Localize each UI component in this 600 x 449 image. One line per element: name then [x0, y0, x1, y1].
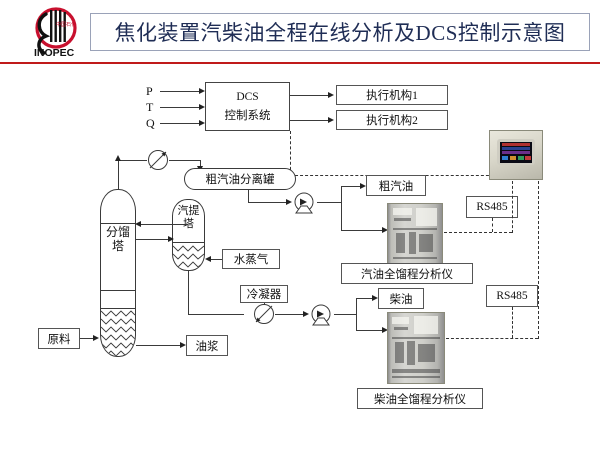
separator-drum-label: 粗汽油分离罐	[206, 171, 275, 187]
line-stripper-vapor-return	[141, 224, 188, 225]
line-tower-overhead-up	[118, 160, 119, 190]
line-steam-to-stripper	[211, 259, 222, 260]
line-hx-to-drum	[169, 160, 200, 161]
line-stripper-to-condenser	[188, 314, 244, 315]
diagram-canvas: INOPEC 中国石化 焦化装置汽柴油全程在线分析及DCS控制示意图 P T Q…	[0, 0, 600, 449]
line-pump-out-upper	[317, 202, 341, 203]
line-feed-to-tower	[80, 338, 93, 339]
page-title-text: 焦化装置汽柴油全程在线分析及DCS控制示意图	[115, 17, 566, 47]
diesel-analyzer-caption: 柴油全馏程分析仪	[357, 388, 483, 409]
logo-cn-text: 中国石化	[56, 21, 76, 28]
dcs-label-line1: DCS	[236, 91, 258, 103]
gasoline-analyzer-caption: 汽油全馏程分析仪	[341, 263, 473, 284]
sinopec-logo: INOPEC 中国石化	[26, 6, 88, 60]
actuator-1-box: 执行机构1	[336, 85, 448, 105]
stripper-label: 汽提塔	[176, 205, 201, 230]
diesel-analyzer-caption-text: 柴油全馏程分析仪	[374, 391, 466, 407]
line-stripper-bottom-down	[188, 271, 189, 314]
feed-text: 原料	[48, 331, 71, 347]
dashed-diesel-to-bus	[446, 338, 538, 339]
rs485-lower-label: RS485	[486, 285, 538, 307]
diesel-condenser-symbol	[253, 303, 275, 325]
input-label-q: Q	[146, 116, 155, 131]
diesel-analyzer-photo	[387, 312, 445, 384]
diesel-label: 柴油	[378, 288, 424, 309]
crude-gasoline-text: 粗汽油	[379, 178, 414, 194]
line-to-gasoline-analyzer	[341, 230, 382, 231]
tower-tray-1	[101, 223, 135, 224]
line-diesel-pump-out	[334, 314, 356, 315]
logo-wordmark: INOPEC	[34, 47, 75, 59]
line-gasoline-riser	[341, 186, 342, 230]
input-label-p: P	[146, 84, 153, 99]
separator-drum: 粗汽油分离罐	[184, 168, 296, 190]
gasoline-analyzer-photo	[387, 203, 443, 265]
fractionator-label: 分馏塔	[104, 226, 132, 253]
condenser-text: 冷凝器	[247, 286, 282, 302]
header: INOPEC 中国石化 焦化装置汽柴油全程在线分析及DCS控制示意图	[0, 0, 600, 62]
line-dcs-to-actuator1	[290, 95, 328, 96]
line-tower-draw-to-stripper	[136, 239, 168, 240]
dashed-bus-up-to-monitor	[512, 181, 513, 233]
arrow-vapor-to-tower	[135, 221, 141, 227]
dashed-bus-right-riser	[538, 181, 539, 339]
header-divider	[0, 62, 600, 64]
dashed-rs485-upper-tap	[492, 218, 493, 232]
arrow-actuator2	[328, 117, 334, 123]
overhead-condenser-symbol	[147, 149, 169, 171]
monitor-screen	[500, 142, 532, 163]
dcs-label-line2: 控制系统	[225, 107, 271, 123]
line-drum-to-pump	[248, 202, 286, 203]
condenser-label: 冷凝器	[240, 285, 288, 303]
actuator-2-box: 执行机构2	[336, 110, 448, 130]
dcs-operator-monitor-photo	[489, 130, 543, 180]
line-q-to-dcs	[160, 123, 199, 124]
slurry-text: 油浆	[196, 338, 219, 354]
arrow-overhead-up	[115, 155, 121, 161]
crude-gasoline-label: 粗汽油	[366, 175, 426, 196]
rs485-upper-text: RS485	[476, 201, 507, 213]
steam-label: 水蒸气	[222, 249, 280, 269]
arrow-draw-to-stripper	[168, 236, 174, 242]
tower-packing	[101, 308, 135, 356]
stripper-packing	[173, 242, 204, 270]
line-diesel-riser	[356, 298, 357, 330]
actuator-2-label: 执行机构2	[366, 112, 418, 128]
feed-label: 原料	[38, 328, 80, 349]
dcs-control-system-box: DCS 控制系统	[205, 82, 290, 131]
line-to-diesel-analyzer	[356, 330, 382, 331]
gasoline-analyzer-caption-text: 汽油全馏程分析仪	[361, 266, 453, 282]
line-tower-bottom-to-slurry	[136, 345, 180, 346]
arrow-actuator1	[328, 92, 334, 98]
slurry-label: 油浆	[186, 335, 228, 356]
arrow-steam-in	[205, 256, 211, 262]
arrow-feed-in	[93, 335, 99, 341]
actuator-1-label: 执行机构1	[366, 87, 418, 103]
line-to-crude-gasoline	[341, 186, 360, 187]
line-drum-down	[248, 190, 249, 202]
dashed-rs485-lower-tap	[512, 307, 513, 338]
diesel-text: 柴油	[390, 291, 413, 307]
fractionator-tower	[100, 189, 136, 357]
diesel-pump-symbol	[308, 303, 334, 329]
tower-tray-2	[101, 290, 135, 291]
line-to-diesel-label	[356, 298, 372, 299]
rs485-upper-label: RS485	[466, 196, 518, 218]
input-label-t: T	[146, 100, 153, 115]
gasoline-pump-symbol	[291, 191, 317, 217]
steam-text: 水蒸气	[234, 251, 269, 267]
line-t-to-dcs	[160, 107, 199, 108]
page-title: 焦化装置汽柴油全程在线分析及DCS控制示意图	[90, 13, 590, 51]
dashed-gasoline-to-bus	[444, 232, 512, 233]
line-p-to-dcs	[160, 91, 199, 92]
rs485-lower-text: RS485	[496, 290, 527, 302]
line-overhead-to-hx	[118, 160, 147, 161]
line-dcs-to-actuator2	[290, 120, 328, 121]
